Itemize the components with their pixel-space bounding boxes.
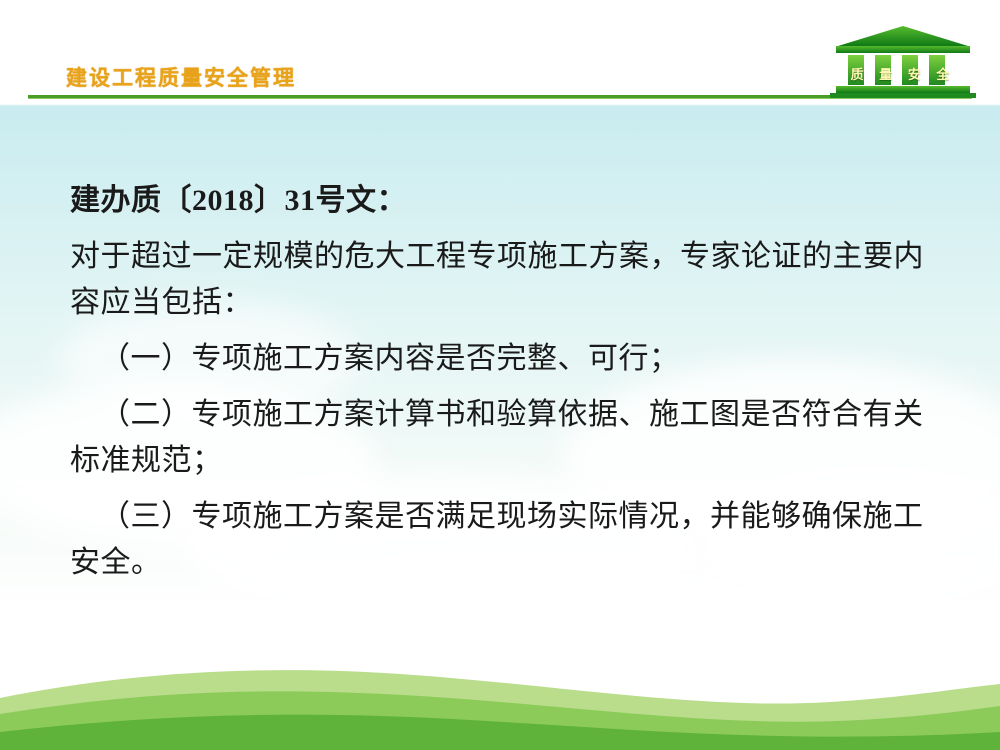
header-title: 建设工程质量安全管理 [66, 62, 296, 92]
grass-decoration [0, 640, 1000, 750]
green-temple-logo: 质 量 安 全 [828, 26, 978, 98]
content-paragraph-1: 对于超过一定规模的危大工程专项施工方案，专家论证的主要内容应当包括： [70, 234, 930, 326]
content-paragraph-4: （三）专项施工方案是否满足现场实际情况，并能够确保施工安全。 [70, 494, 930, 586]
content-paragraph-3: （二）专项施工方案计算书和验算依据、施工图是否符合有关标准规范； [70, 392, 930, 484]
slide-content: 建办质〔2018〕31号文： 对于超过一定规模的危大工程专项施工方案，专家论证的… [70, 178, 930, 588]
content-paragraph-2: （一）专项施工方案内容是否完整、可行； [70, 336, 930, 382]
slide: 建设工程质量安全管理 [0, 0, 1000, 750]
content-heading: 建办质〔2018〕31号文： [70, 178, 930, 224]
slide-header: 建设工程质量安全管理 [0, 0, 1000, 104]
